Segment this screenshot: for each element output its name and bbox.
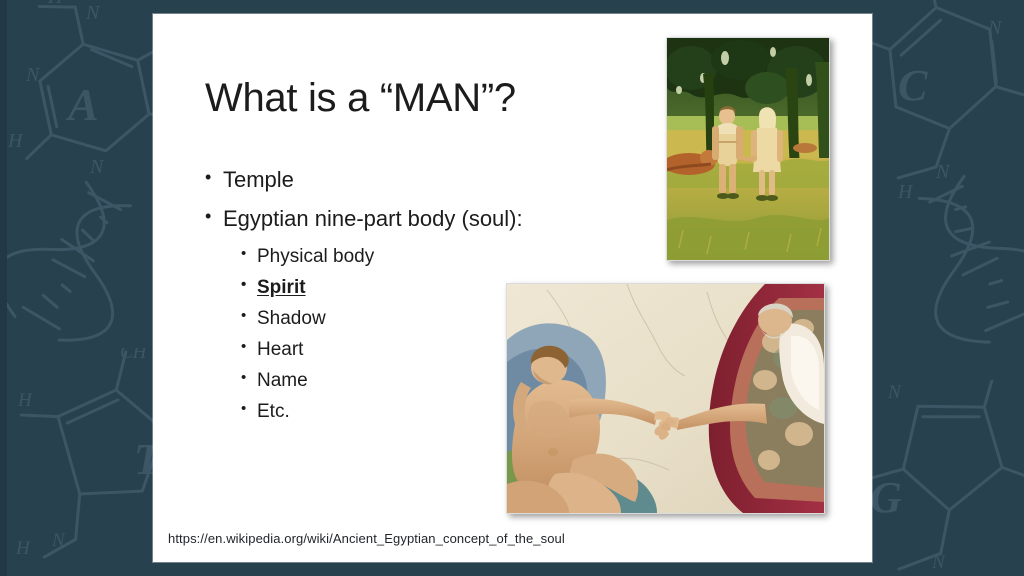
svg-text:H: H (47, 0, 64, 8)
svg-text:N: N (51, 530, 66, 551)
bullet-label: Physical body (257, 246, 374, 267)
adam-and-eve-painting (666, 37, 830, 261)
svg-text:N: N (887, 382, 902, 403)
svg-text:H: H (7, 130, 24, 152)
dna-helix-icon (0, 180, 148, 360)
svg-text:CH: CH (120, 348, 148, 363)
cytosine-ring-icon: H N O N H C (862, 0, 1024, 212)
adam-and-eve-artwork (667, 38, 829, 260)
dna-helix-icon (906, 172, 1024, 362)
svg-text:H: H (16, 538, 31, 559)
svg-text:N: N (931, 552, 946, 573)
presentation-slide: What is a “MAN”? Temple Egyptian nine-pa… (153, 14, 872, 562)
svg-text:H: H (897, 181, 914, 203)
list-item: Physical body (241, 247, 625, 266)
bullet-label: Temple (223, 167, 294, 192)
creation-of-adam-painting (506, 283, 825, 514)
svg-text:N: N (935, 161, 951, 183)
list-item: Temple (205, 169, 625, 191)
svg-text:G: G (872, 473, 902, 522)
svg-text:N: N (89, 156, 105, 178)
svg-text:C: C (898, 61, 928, 110)
bullet-label: Heart (257, 339, 303, 360)
svg-text:N: N (25, 64, 41, 86)
bullet-label: Name (257, 370, 308, 391)
bullet-label: Shadow (257, 308, 326, 329)
left-edge-strip (0, 0, 7, 576)
source-url-caption: https://en.wikipedia.org/wiki/Ancient_Eg… (168, 531, 565, 546)
bullet-label: Egyptian nine-part body (soul): (223, 206, 523, 231)
list-item: Egyptian nine-part body (soul): (205, 208, 625, 230)
svg-text:N: N (987, 17, 1003, 39)
svg-text:H: H (969, 380, 985, 383)
creation-of-adam-artwork (507, 284, 824, 513)
bullet-label: Etc. (257, 401, 290, 422)
guanine-ring-icon: N H N N H G (872, 380, 1024, 576)
page-title: What is a “MAN”? (205, 76, 516, 121)
svg-text:H: H (17, 390, 33, 411)
svg-text:N: N (85, 2, 101, 24)
slide-viewer: N N N H H A (0, 0, 1024, 576)
svg-text:A: A (65, 79, 99, 130)
bullet-label: Spirit (257, 277, 306, 298)
